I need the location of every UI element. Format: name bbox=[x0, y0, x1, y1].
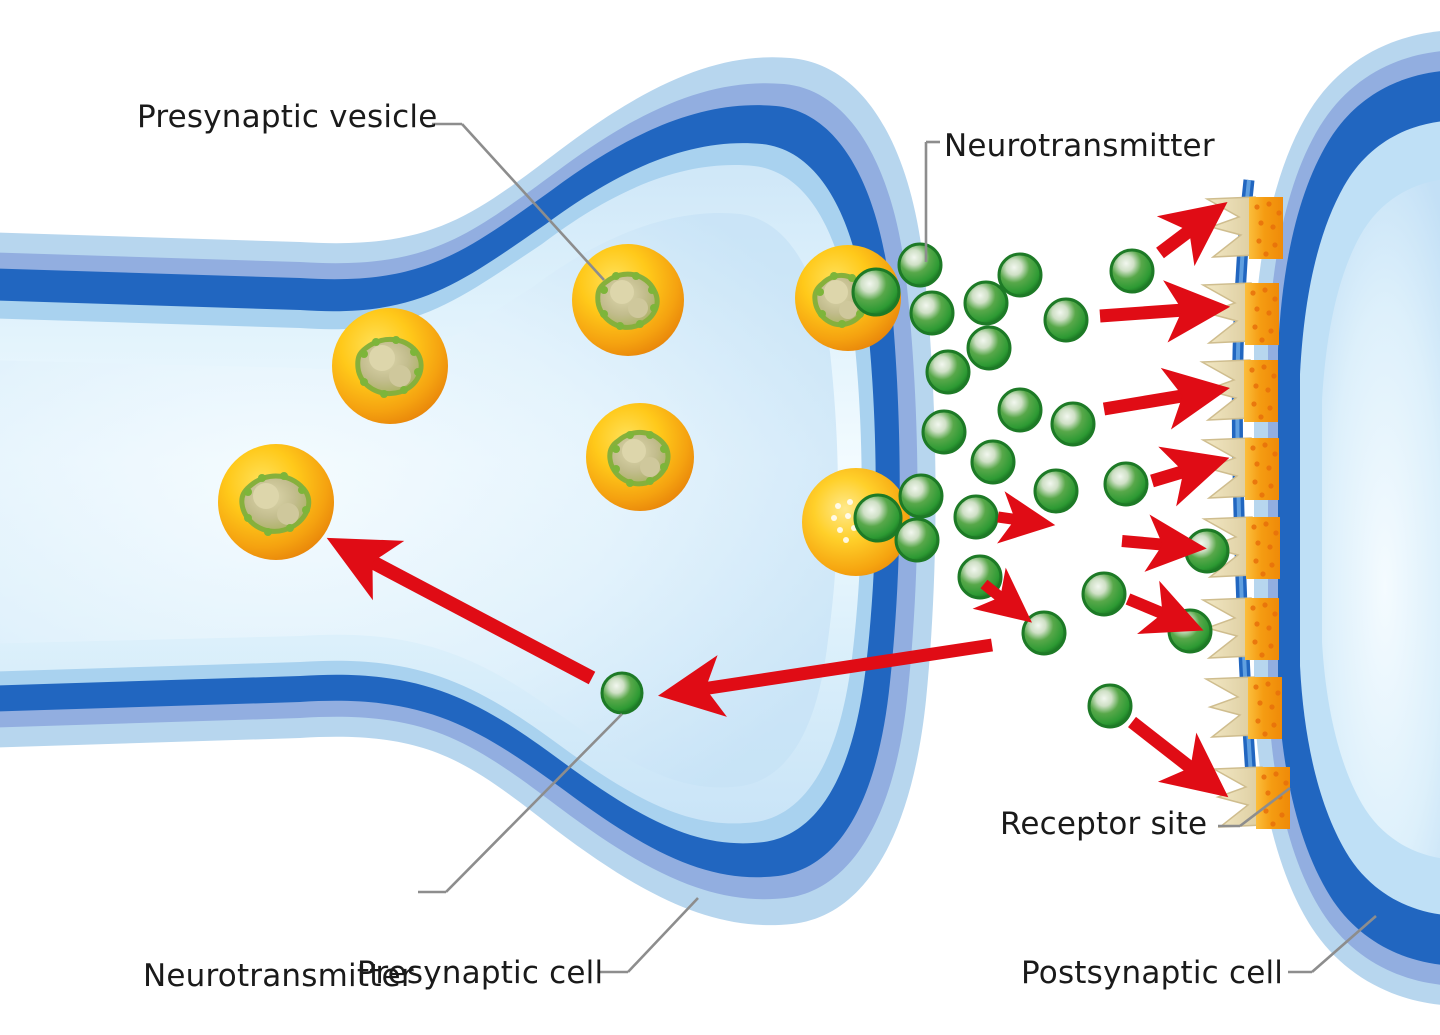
neurotransmitter[interactable] bbox=[1023, 612, 1065, 654]
neurotransmitter[interactable] bbox=[1045, 299, 1087, 341]
receptor-site[interactable] bbox=[1206, 677, 1282, 739]
arrow-to-receptor-4 bbox=[1152, 463, 1212, 481]
neurotransmitter[interactable] bbox=[1105, 463, 1147, 505]
presynaptic-cell bbox=[0, 57, 936, 925]
receptor-site[interactable] bbox=[1203, 438, 1279, 500]
neurotransmitter[interactable] bbox=[999, 254, 1041, 296]
neurotransmitter[interactable] bbox=[1035, 470, 1077, 512]
arrow-to-receptor-1 bbox=[1160, 213, 1213, 253]
arrow-diffuse-down bbox=[984, 584, 1020, 613]
neurotransmitter[interactable] bbox=[1083, 573, 1125, 615]
arrow-to-receptor-8 bbox=[1132, 722, 1214, 786]
neurotransmitter[interactable] bbox=[955, 496, 997, 538]
arrow-to-receptor-2 bbox=[1100, 308, 1212, 316]
neurotransmitter[interactable] bbox=[972, 441, 1014, 483]
neurotransmitter[interactable] bbox=[1111, 250, 1153, 292]
neurotransmitter-reuptake-particle[interactable] bbox=[602, 673, 642, 713]
arrow-to-receptor-5 bbox=[998, 517, 1040, 523]
arrow-to-receptor-6 bbox=[1122, 541, 1190, 547]
neurotransmitter[interactable] bbox=[1089, 685, 1131, 727]
receptor-site[interactable] bbox=[1203, 598, 1279, 660]
neurotransmitter[interactable] bbox=[965, 282, 1007, 324]
label-receptor-site: Receptor site bbox=[1000, 803, 1207, 846]
label-postsynaptic-cell: Postsynaptic cell bbox=[1021, 952, 1283, 995]
neurotransmitter-bound[interactable] bbox=[1186, 530, 1228, 572]
label-presynaptic-vesicle: Presynaptic vesicle bbox=[137, 96, 437, 139]
presynaptic-vesicle[interactable] bbox=[586, 403, 694, 511]
label-presynaptic-cell: Presynaptic cell bbox=[357, 952, 603, 995]
neurotransmitter[interactable] bbox=[927, 351, 969, 393]
presynaptic-vesicle[interactable] bbox=[218, 444, 334, 560]
vesicle-core bbox=[610, 431, 668, 487]
presynaptic-vesicle[interactable] bbox=[332, 308, 448, 424]
receptor-site[interactable] bbox=[1203, 283, 1279, 345]
neurotransmitter[interactable] bbox=[911, 292, 953, 334]
arrow-to-receptor-3 bbox=[1104, 391, 1212, 409]
neurotransmitter[interactable] bbox=[896, 519, 938, 561]
neurotransmitter[interactable] bbox=[968, 327, 1010, 369]
synapse-diagram: Presynaptic vesicle Neurotransmitter Rec… bbox=[0, 0, 1440, 1035]
neurotransmitter[interactable] bbox=[999, 389, 1041, 431]
neurotransmitter[interactable] bbox=[899, 244, 941, 286]
vesicle-core bbox=[598, 272, 658, 330]
receptor-site[interactable] bbox=[1202, 360, 1278, 422]
neurotransmitter[interactable] bbox=[1052, 403, 1094, 445]
leader-presynaptic-cell bbox=[628, 898, 698, 972]
receptor-site[interactable] bbox=[1207, 197, 1283, 259]
neurotransmitter[interactable] bbox=[900, 475, 942, 517]
label-neurotransmitter: Neurotransmitter bbox=[944, 125, 1215, 168]
neurotransmitter-emerging[interactable] bbox=[853, 269, 899, 315]
neurotransmitter[interactable] bbox=[923, 411, 965, 453]
neurotransmitter-emerging[interactable] bbox=[855, 495, 901, 541]
presynaptic-vesicle[interactable] bbox=[572, 244, 684, 356]
